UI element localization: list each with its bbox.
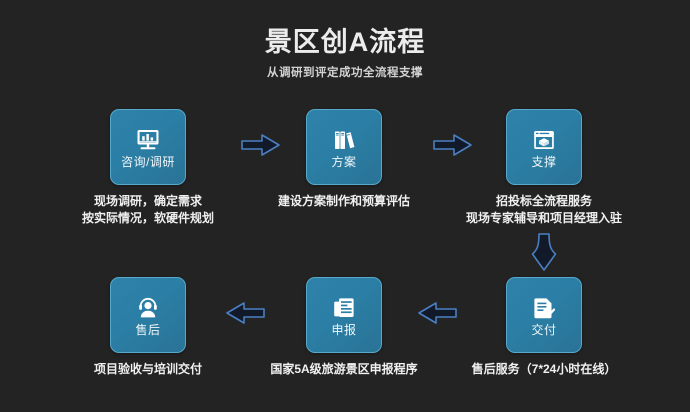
flow-step-6[interactable]: 售后 项目验收与培训交付 <box>110 277 186 353</box>
caption-line: 国家5A级旅游景区申报程序 <box>270 361 417 378</box>
page-subtitle: 从调研到评定成功全流程支撑 <box>0 64 690 80</box>
connector-2-3-arrow-right-icon <box>432 132 474 158</box>
flow-step-3[interactable]: 支撑 招投标全流程服务 现场专家辅导和项目经理入驻 <box>506 109 582 185</box>
caption-line: 现场调研，确定需求 <box>82 193 214 210</box>
flow-step-2-label: 方案 <box>331 156 356 168</box>
diagram-header: 景区创A流程 从调研到评定成功全流程支撑 <box>0 26 690 80</box>
caption-line: 按实际情况，软硬件规划 <box>82 210 214 227</box>
caption-line: 建设方案制作和预算评估 <box>278 193 410 210</box>
connector-5-6-arrow-left-icon <box>224 300 266 326</box>
flow-step-3-caption: 招投标全流程服务 现场专家辅导和项目经理入驻 <box>466 193 622 228</box>
flow-step-2-card[interactable]: 方案 <box>306 109 382 185</box>
flow-step-4-caption: 售后服务（7*24小时在线） <box>472 361 617 378</box>
connector-1-2-arrow-right-icon <box>240 132 282 158</box>
flow-step-1-label: 咨询/调研 <box>121 156 175 168</box>
flow-step-5-label: 申报 <box>331 324 356 336</box>
flow-step-2[interactable]: 方案 建设方案制作和预算评估 <box>306 109 382 185</box>
page-title: 景区创A流程 <box>0 26 690 58</box>
flow-step-4-card[interactable]: 交付 <box>506 277 582 353</box>
flow-step-5[interactable]: 申报 国家5A级旅游景区申报程序 <box>306 277 382 353</box>
document-check-icon <box>531 295 557 321</box>
flow-step-1-card[interactable]: 咨询/调研 <box>110 109 186 185</box>
flow-step-4[interactable]: 交付 售后服务（7*24小时在线） <box>506 277 582 353</box>
books-icon <box>331 127 357 153</box>
connector-4-5-arrow-left-icon <box>416 300 458 326</box>
flow-step-5-caption: 国家5A级旅游景区申报程序 <box>270 361 417 378</box>
flow-step-1-caption: 现场调研，确定需求 按实际情况，软硬件规划 <box>82 193 214 228</box>
connector-3-4-arrow-down-icon <box>528 232 560 276</box>
caption-line: 项目验收与培训交付 <box>94 361 202 378</box>
flow-diagram-canvas: 景区创A流程 从调研到评定成功全流程支撑 咨询/调研 现场调研，确定需求 <box>0 0 690 412</box>
flow-step-1[interactable]: 咨询/调研 现场调研，确定需求 按实际情况，软硬件规划 <box>110 109 186 185</box>
flow-step-5-card[interactable]: 申报 <box>306 277 382 353</box>
flow-step-6-label: 售后 <box>135 324 160 336</box>
flow-step-2-caption: 建设方案制作和预算评估 <box>278 193 410 210</box>
flow-step-6-caption: 项目验收与培训交付 <box>94 361 202 378</box>
headset-support-icon <box>135 295 161 321</box>
flow-step-4-label: 交付 <box>531 324 556 336</box>
bar-chart-board-icon <box>135 127 161 153</box>
caption-line: 招投标全流程服务 <box>466 193 622 210</box>
flow-step-3-label: 支撑 <box>531 156 556 168</box>
caption-line: 现场专家辅导和项目经理入驻 <box>466 210 622 227</box>
flow-step-3-card[interactable]: 支撑 <box>506 109 582 185</box>
caption-line: 售后服务（7*24小时在线） <box>472 361 617 378</box>
browser-cube-icon <box>531 127 557 153</box>
flow-step-6-card[interactable]: 售后 <box>110 277 186 353</box>
document-lines-icon <box>331 295 357 321</box>
